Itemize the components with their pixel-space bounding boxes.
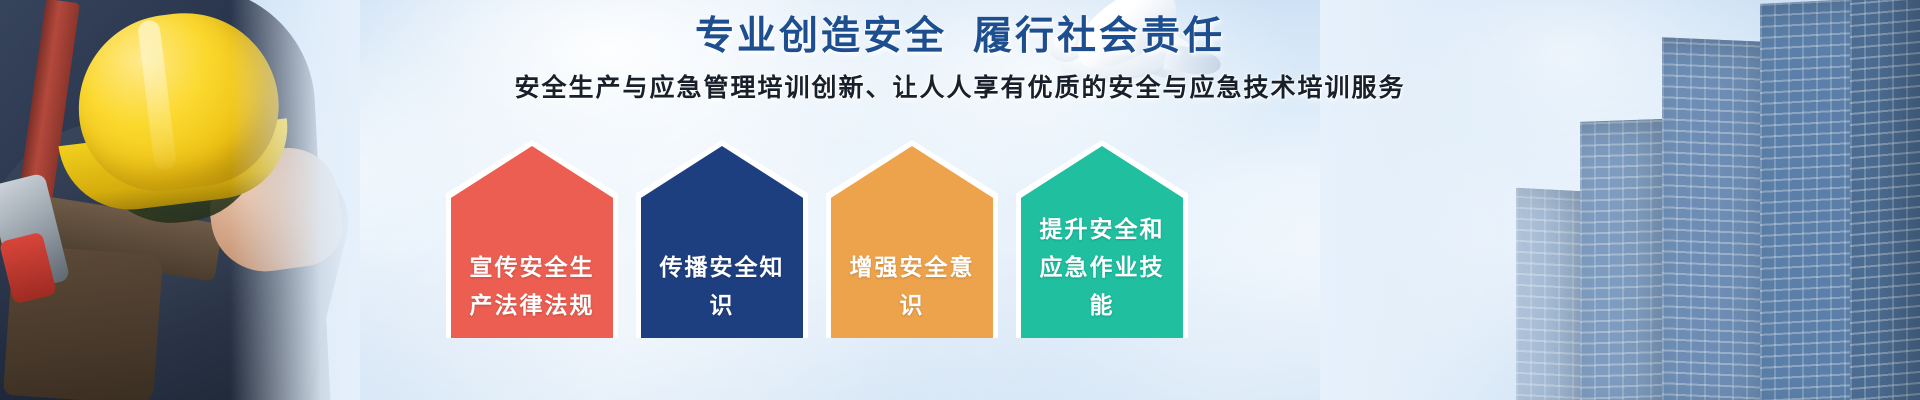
banner-subheadline: 安全生产与应急管理培训创新、让人人享有优质的安全与应急技术培训服务 <box>0 68 1920 104</box>
safety-training-banner: 专业创造安全履行社会责任 安全生产与应急管理培训创新、让人人享有优质的安全与应急… <box>0 0 1920 400</box>
badge-skills[interactable]: 提升安全和应急作业技能 <box>1016 140 1188 338</box>
headline-segment-one: 专业创造安全 <box>695 15 947 58</box>
badge-regulations-label: 宣传安全生产法律法规 <box>451 248 613 338</box>
headline-segment-two: 履行社会责任 <box>973 15 1225 58</box>
badge-regulations[interactable]: 宣传安全生产法律法规 <box>446 140 618 338</box>
badge-awareness-label: 增强安全意识 <box>831 248 993 338</box>
badge-skills-fill: 提升安全和应急作业技能 <box>1021 146 1183 338</box>
badge-awareness[interactable]: 增强安全意识 <box>826 140 998 338</box>
badge-row: 宣传安全生产法律法规 传播安全知识 增强安全意识 提升安全和应急作业技能 <box>446 140 1190 400</box>
badge-awareness-fill: 增强安全意识 <box>831 146 993 338</box>
banner-headline: 专业创造安全履行社会责任 <box>0 5 1920 61</box>
badge-knowledge[interactable]: 传播安全知识 <box>636 140 808 338</box>
badge-knowledge-label: 传播安全知识 <box>641 248 803 338</box>
badge-regulations-fill: 宣传安全生产法律法规 <box>451 146 613 338</box>
badge-knowledge-fill: 传播安全知识 <box>641 146 803 338</box>
badge-skills-label: 提升安全和应急作业技能 <box>1021 210 1183 338</box>
